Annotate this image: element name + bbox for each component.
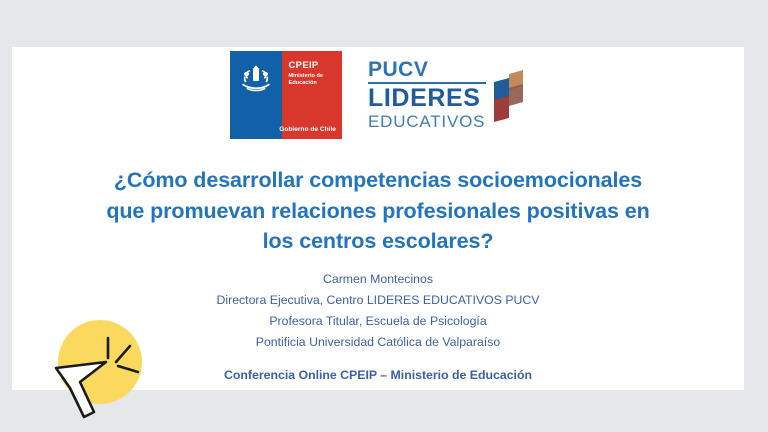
slide-title-line-2: que promuevan relaciones profesionales p…	[72, 196, 684, 227]
pucv-logo-text: PUCV LIDERES EDUCATIVOS	[368, 59, 486, 131]
presenter-position: Profesora Titular, Escuela de Psicología	[72, 311, 684, 332]
presenter-block: Carmen Montecinos Directora Ejecutiva, C…	[72, 269, 684, 382]
cpeip-logo: CPEIP Ministerio de Educación Gobierno d…	[230, 51, 342, 139]
pucv-educativos-label: EDUCATIVOS	[368, 113, 485, 130]
pucv-lideres-educativos-logo: PUCV LIDERES EDUCATIVOS	[368, 55, 526, 135]
slide-title-line-1: ¿Cómo desarrollar competencias socioemoc…	[72, 165, 684, 196]
cpeip-logo-red-panel: CPEIP Ministerio de Educación Gobierno d…	[282, 51, 342, 139]
pucv-acronym: PUCV	[368, 59, 428, 80]
event-label: Conferencia Online CPEIP – Ministerio de…	[72, 368, 684, 382]
chile-coat-of-arms-icon	[238, 63, 274, 93]
cpeip-ministry-label: Ministerio de Educación	[289, 73, 341, 88]
slide-title-line-3: los centros escolares?	[72, 226, 684, 257]
pucv-lideres-label: LIDERES	[368, 86, 481, 111]
cpeip-acronym: CPEIP	[289, 61, 319, 71]
presentation-slide: CPEIP Ministerio de Educación Gobierno d…	[12, 47, 744, 390]
logo-band: CPEIP Ministerio de Educación Gobierno d…	[12, 47, 744, 142]
slide-title: ¿Cómo desarrollar competencias socioemoc…	[72, 165, 684, 257]
presenter-name: Carmen Montecinos	[72, 269, 684, 290]
presenter-role: Directora Ejecutiva, Centro LIDERES EDUC…	[72, 290, 684, 311]
cpeip-logo-blue-panel	[230, 51, 282, 139]
pucv-parallelogram-mark-icon	[492, 70, 526, 126]
presenter-institution: Pontificia Universidad Católica de Valpa…	[72, 332, 684, 353]
slide-stage: CPEIP Ministerio de Educación Gobierno d…	[0, 0, 768, 432]
cpeip-government-label: Gobierno de Chile	[279, 126, 336, 133]
